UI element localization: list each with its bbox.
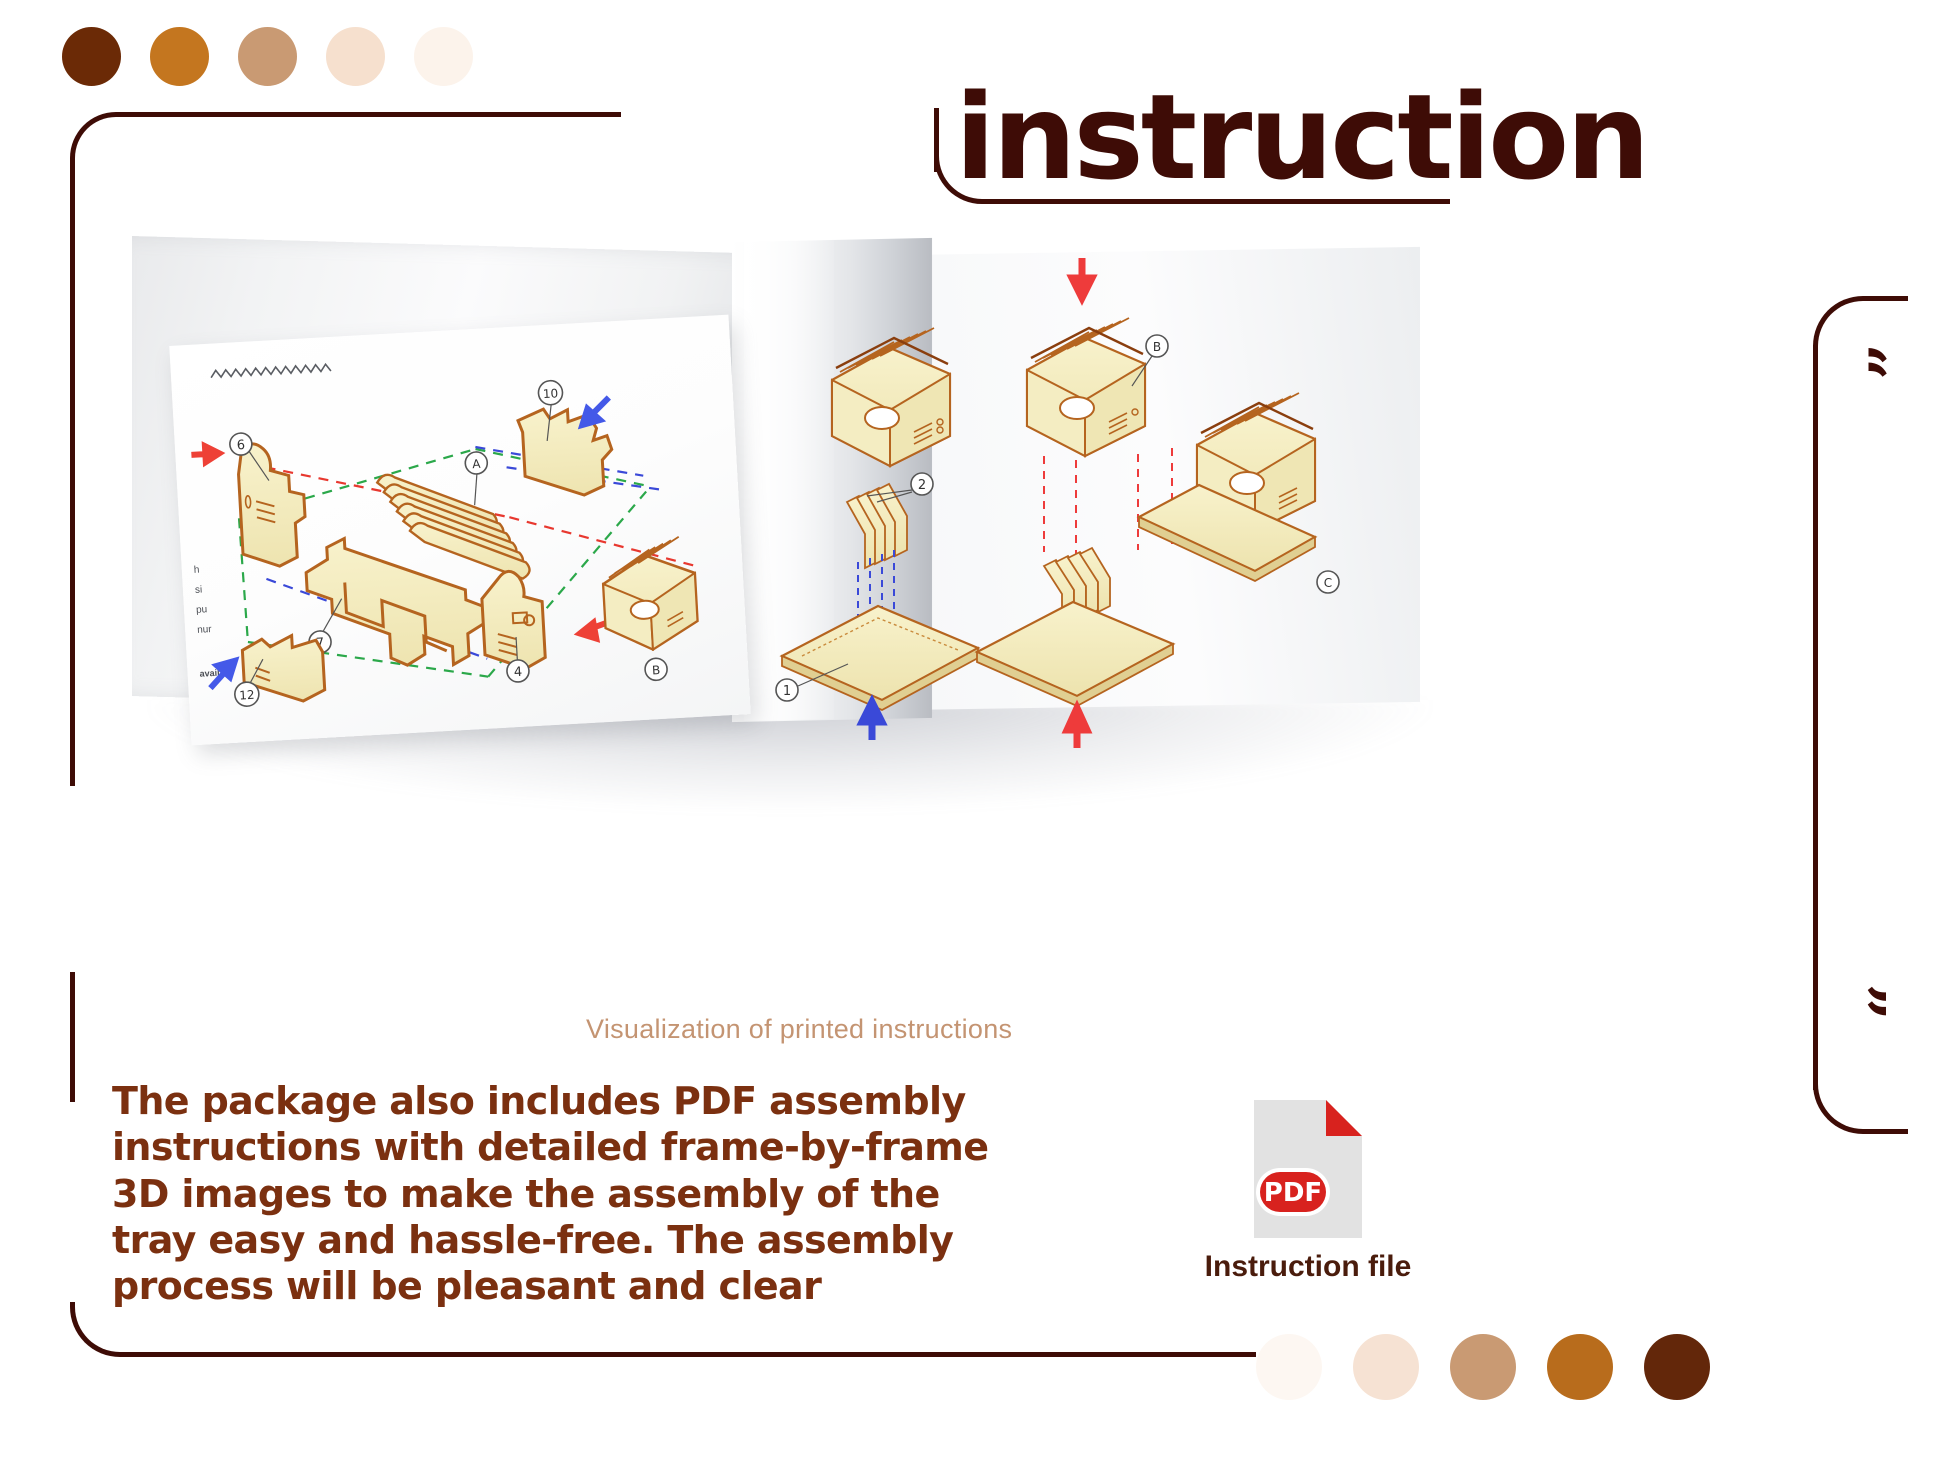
page-title: instruction (955, 78, 1895, 196)
svg-text:A: A (472, 457, 482, 471)
part-6 (237, 441, 308, 568)
palette-swatches-bottom (1256, 1334, 1710, 1400)
svg-text:h: h (194, 565, 200, 576)
swatch-ivory (414, 27, 473, 86)
assembly-step-2: B (977, 258, 1173, 748)
arrow-blue-top (581, 397, 610, 425)
svg-text:pu: pu (196, 604, 208, 616)
pdf-badge: PDF (1256, 1168, 1330, 1216)
svg-text:1: 1 (783, 684, 791, 699)
svg-text:C: C (1324, 576, 1332, 590)
svg-text:12: 12 (239, 688, 255, 703)
side-bracket-corner-bottom (1813, 1078, 1869, 1134)
swatch-peach-2 (1353, 1334, 1419, 1400)
callout-C: C (1317, 571, 1339, 593)
side-bracket-line (1813, 345, 1818, 1090)
left-page-exploded-diagram: h si pu nur availab (169, 315, 750, 746)
swatch-dark-brown-2 (1644, 1334, 1710, 1400)
palette-swatches-top (62, 27, 473, 86)
mockup-caption: Visualization of printed instructions (586, 1014, 1006, 1045)
svg-text:4: 4 (513, 665, 522, 680)
swatch-tan-2 (1450, 1334, 1516, 1400)
assembly-step-3: C (1139, 393, 1339, 593)
side-bracket-tail-top (1864, 296, 1908, 301)
callout-B-left: B (644, 658, 667, 681)
pdf-folded-corner (1326, 1100, 1362, 1136)
frame-corner-top-left (70, 112, 120, 162)
frame-line-left (70, 158, 75, 786)
zigzag-rule (211, 364, 331, 378)
assembly-step-1: 2 1 (776, 328, 978, 740)
frame-line-left-lower (70, 972, 75, 1102)
frame-corner-bottom-left (70, 1302, 130, 1357)
book-mockup: 2 1 (132, 240, 1420, 800)
svg-text:B: B (1153, 340, 1161, 354)
svg-text:2: 2 (918, 478, 926, 493)
swatch-peach (326, 27, 385, 86)
svg-text:B: B (652, 663, 661, 677)
body-paragraph: The package also includes PDF assembly i… (112, 1078, 1012, 1310)
swatch-dark-brown (62, 27, 121, 86)
frame-line-bottom (126, 1352, 1256, 1357)
swatch-tan (238, 27, 297, 86)
overlay-instruction-sheet: h si pu nur availab (169, 315, 750, 746)
pdf-badge-text: PDF (1264, 1178, 1322, 1208)
part-4 (480, 570, 545, 671)
quote-close-mark: ” (1828, 984, 1892, 1021)
swatch-caramel (150, 27, 209, 86)
pdf-file-block: PDF Instruction file (1148, 1098, 1468, 1284)
pdf-file-icon: PDF (1252, 1098, 1364, 1240)
side-bracket-tail-bottom (1864, 1129, 1908, 1134)
callout-A: A (465, 451, 490, 505)
arrow-red-left (191, 445, 220, 463)
svg-text:10: 10 (543, 386, 559, 401)
svg-text:nur: nur (197, 624, 213, 636)
part-B-assembled (601, 536, 699, 652)
quote-open-mark: “ (1828, 344, 1892, 381)
svg-text:6: 6 (236, 438, 245, 453)
pdf-file-label: Instruction file (1148, 1250, 1468, 1284)
frame-line-top (116, 112, 621, 117)
svg-text:si: si (195, 584, 203, 595)
swatch-ivory-2 (1256, 1334, 1322, 1400)
swatch-caramel-2 (1547, 1334, 1613, 1400)
